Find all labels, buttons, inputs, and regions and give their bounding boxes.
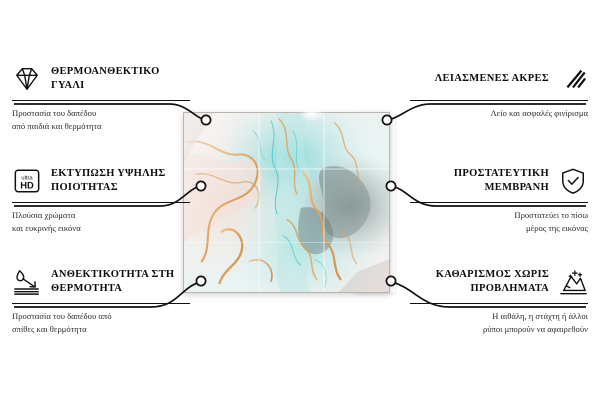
divider	[12, 202, 190, 203]
feature-high-quality-print[interactable]: ultra HD ΕΚΤΥΠΩΣΗ ΥΨΗΛΗΣ ΠΟΙΟΤΗΤΑΣ Πλούσ…	[12, 165, 190, 234]
svg-text:HD: HD	[20, 180, 34, 190]
product-panel-group	[183, 112, 390, 293]
feature-description: Προστασία του δαπέδου από παιδιά και θερ…	[12, 107, 190, 132]
feature-title: ΕΚΤΥΠΩΣΗ ΥΨΗΛΗΣ ΠΟΙΟΤΗΤΑΣ	[51, 167, 190, 195]
feature-easy-cleaning[interactable]: ΚΑΘΑΡΙΣΜΟΣ ΧΩΡΙΣ ΠΡΟΒΛΗΜΑΤΑ Η αιθάλη, η …	[410, 266, 588, 335]
feature-title: ΑΝΘΕΚΤΙΚΟΤΗΤΑ ΣΤΗ ΘΕΡΜΟΤΗΤΑ	[51, 268, 190, 296]
divider	[410, 202, 588, 203]
sparkle-wipe-icon	[558, 268, 588, 296]
feature-header: ΠΡΟΣΤΑΤΕΥΤΙΚΗ ΜΕΜΒΡΑΝΗ	[410, 165, 588, 197]
feature-header: ΛΕΙΑΣΜΕΝΕΣ ΑΚΡΕΣ	[410, 63, 588, 95]
divider	[410, 303, 588, 304]
product-glass-image	[183, 112, 390, 293]
diamond-icon	[12, 65, 42, 93]
feature-description: Η αιθάλη, η στάχτη ή άλλοι ρύποι μπορούν…	[410, 310, 588, 335]
flame-deflect-icon	[12, 268, 42, 296]
feature-protective-membrane[interactable]: ΠΡΟΣΤΑΤΕΥΤΙΚΗ ΜΕΜΒΡΑΝΗ Προστατεύει το πί…	[410, 165, 588, 234]
feature-title: ΛΕΙΑΣΜΕΝΕΣ ΑΚΡΕΣ	[435, 72, 549, 86]
diagonal-stripes-icon	[558, 65, 588, 93]
feature-header: ultra HD ΕΚΤΥΠΩΣΗ ΥΨΗΛΗΣ ΠΟΙΟΤΗΤΑΣ	[12, 165, 190, 197]
feature-header: ΚΑΘΑΡΙΣΜΟΣ ΧΩΡΙΣ ΠΡΟΒΛΗΜΑΤΑ	[410, 266, 588, 298]
feature-title: ΚΑΘΑΡΙΣΜΟΣ ΧΩΡΙΣ ΠΡΟΒΛΗΜΑΤΑ	[410, 268, 549, 296]
feature-heat-durability[interactable]: ΑΝΘΕΚΤΙΚΟΤΗΤΑ ΣΤΗ ΘΕΡΜΟΤΗΤΑ Προστασία το…	[12, 266, 190, 335]
divider	[12, 303, 190, 304]
feature-description: Προστασία του δαπέδου από σπίθες και θερ…	[12, 310, 190, 335]
feature-description: Προστατεύει το πίσω μέρος της εικόνας	[410, 209, 588, 234]
feature-description: Πλούσια χρώματα και ευκρινής εικόνα	[12, 209, 190, 234]
feature-heat-resistant-glass[interactable]: ΘΕΡΜΟΑΝΘΕΚΤΙΚΟ ΓΥΑΛΙ Προστασία του δαπέδ…	[12, 63, 190, 132]
feature-polished-edges[interactable]: ΛΕΙΑΣΜΕΝΕΣ ΑΚΡΕΣ Λείο και ασφαλές φινίρι…	[410, 63, 588, 120]
feature-description: Λείο και ασφαλές φινίρισμα	[410, 107, 588, 119]
shield-check-icon	[558, 167, 588, 195]
feature-header: ΑΝΘΕΚΤΙΚΟΤΗΤΑ ΣΤΗ ΘΕΡΜΟΤΗΤΑ	[12, 266, 190, 298]
divider	[12, 100, 190, 101]
feature-title: ΘΕΡΜΟΑΝΘΕΚΤΙΚΟ ΓΥΑΛΙ	[51, 65, 190, 93]
feature-title: ΠΡΟΣΤΑΤΕΥΤΙΚΗ ΜΕΜΒΡΑΝΗ	[410, 167, 549, 195]
marble-artwork	[184, 113, 389, 292]
infographic-stage: ΘΕΡΜΟΑΝΘΕΚΤΙΚΟ ΓΥΑΛΙ Προστασία του δαπέδ…	[0, 0, 600, 400]
ultra-hd-icon: ultra HD	[12, 167, 42, 195]
divider	[410, 100, 588, 101]
feature-header: ΘΕΡΜΟΑΝΘΕΚΤΙΚΟ ΓΥΑΛΙ	[12, 63, 190, 95]
